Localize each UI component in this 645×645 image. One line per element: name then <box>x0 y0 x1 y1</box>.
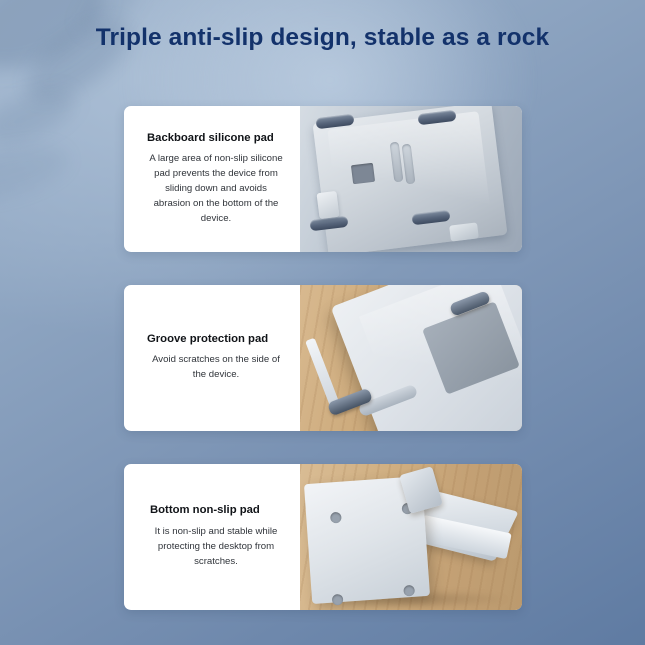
feature-card-text: Groove protection pad Avoid scratches on… <box>124 285 300 431</box>
feature-title: Bottom non-slip pad <box>150 504 288 518</box>
feature-title: Groove protection pad <box>147 333 288 347</box>
feature-description: It is non-slip and stable while protecti… <box>144 525 288 570</box>
promo-banner: Triple anti-slip design, stable as a roc… <box>0 0 645 645</box>
feature-photo-backboard <box>300 106 522 252</box>
feature-card-backboard-silicone-pad: Backboard silicone pad A large area of n… <box>124 106 522 252</box>
feature-photo-bottom <box>300 464 522 610</box>
non-slip-foot-graphic <box>403 585 415 597</box>
feature-card-groove-protection-pad: Groove protection pad Avoid scratches on… <box>124 285 522 431</box>
feature-card-bottom-non-slip-pad: Bottom non-slip pad It is non-slip and s… <box>124 464 522 610</box>
feature-photo-groove <box>300 285 522 431</box>
feature-title: Backboard silicone pad <box>147 132 288 146</box>
logo-plate-graphic <box>351 163 375 185</box>
feature-description: Avoid scratches on the side of the devic… <box>144 353 288 383</box>
page-title: Triple anti-slip design, stable as a roc… <box>0 24 645 52</box>
stand-foot-graphic <box>449 222 479 241</box>
stand-tab-graphic <box>316 191 339 219</box>
leaf-shadow-5 <box>0 135 74 211</box>
non-slip-foot-graphic <box>330 512 342 524</box>
feature-card-text: Bottom non-slip pad It is non-slip and s… <box>124 464 300 610</box>
feature-description: A large area of non-slip silicone pad pr… <box>144 152 288 226</box>
feature-card-text: Backboard silicone pad A large area of n… <box>124 106 300 252</box>
